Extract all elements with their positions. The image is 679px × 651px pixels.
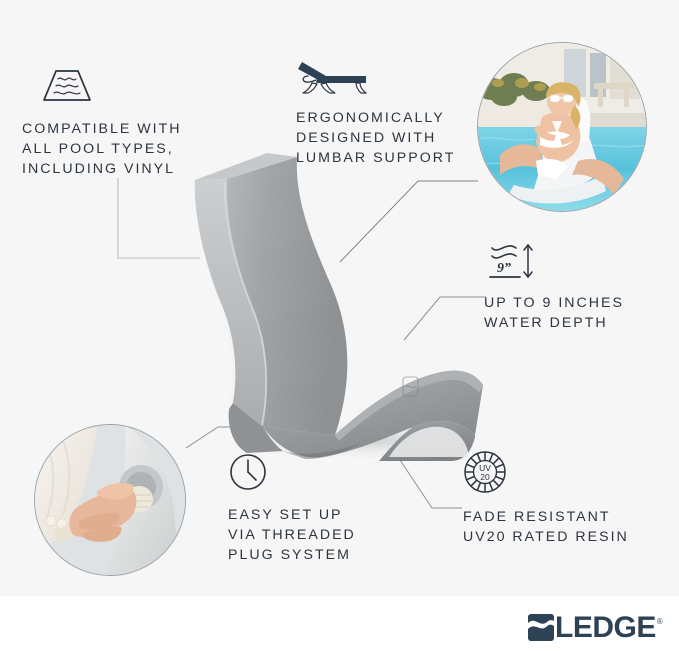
threaded-plug-photo xyxy=(34,424,186,576)
feature-fade-resistant: UV 20 FADE RESISTANT UV20 RATED RESIN xyxy=(463,450,663,547)
feature-caption: FADE RESISTANT UV20 RATED RESIN xyxy=(463,507,663,547)
uv-icon-label-bottom: 20 xyxy=(480,472,490,482)
depth-icon-label: 9” xyxy=(497,261,511,276)
feature-water-depth: 9” UP TO 9 INCHES WATER DEPTH xyxy=(484,240,659,333)
feature-caption: UP TO 9 INCHES WATER DEPTH xyxy=(484,293,659,333)
ledge-wave-mark-icon xyxy=(528,614,554,641)
brand-logo: LEDGE ® xyxy=(528,614,663,641)
feature-ergonomic-lumbar: ERGONOMICALLY DESIGNED WITH LUMBAR SUPPO… xyxy=(296,56,476,168)
uv-sun-icon: UV 20 xyxy=(463,450,663,499)
feature-caption: EASY SET UP VIA THREADED PLUG SYSTEM xyxy=(228,505,403,565)
registered-trademark-symbol: ® xyxy=(657,617,663,627)
chaise-lounge-icon xyxy=(296,56,476,101)
pool-lifestyle-photo xyxy=(477,42,647,212)
pool-trapezoid-waves-icon xyxy=(40,66,232,111)
product-lounge-chair xyxy=(175,135,495,465)
brand-wordmark: LEDGE xyxy=(555,614,656,641)
feature-compatible-pool-types: COMPATIBLE WITH ALL POOL TYPES, INCLUDIN… xyxy=(22,66,232,179)
infographic-canvas: COMPATIBLE WITH ALL POOL TYPES, INCLUDIN… xyxy=(0,0,679,651)
clock-icon xyxy=(228,452,403,497)
feature-caption: COMPATIBLE WITH ALL POOL TYPES, INCLUDIN… xyxy=(22,119,232,179)
feature-easy-setup: EASY SET UP VIA THREADED PLUG SYSTEM xyxy=(228,452,403,565)
feature-caption: ERGONOMICALLY DESIGNED WITH LUMBAR SUPPO… xyxy=(296,108,476,168)
water-depth-measure-icon: 9” xyxy=(486,240,659,287)
